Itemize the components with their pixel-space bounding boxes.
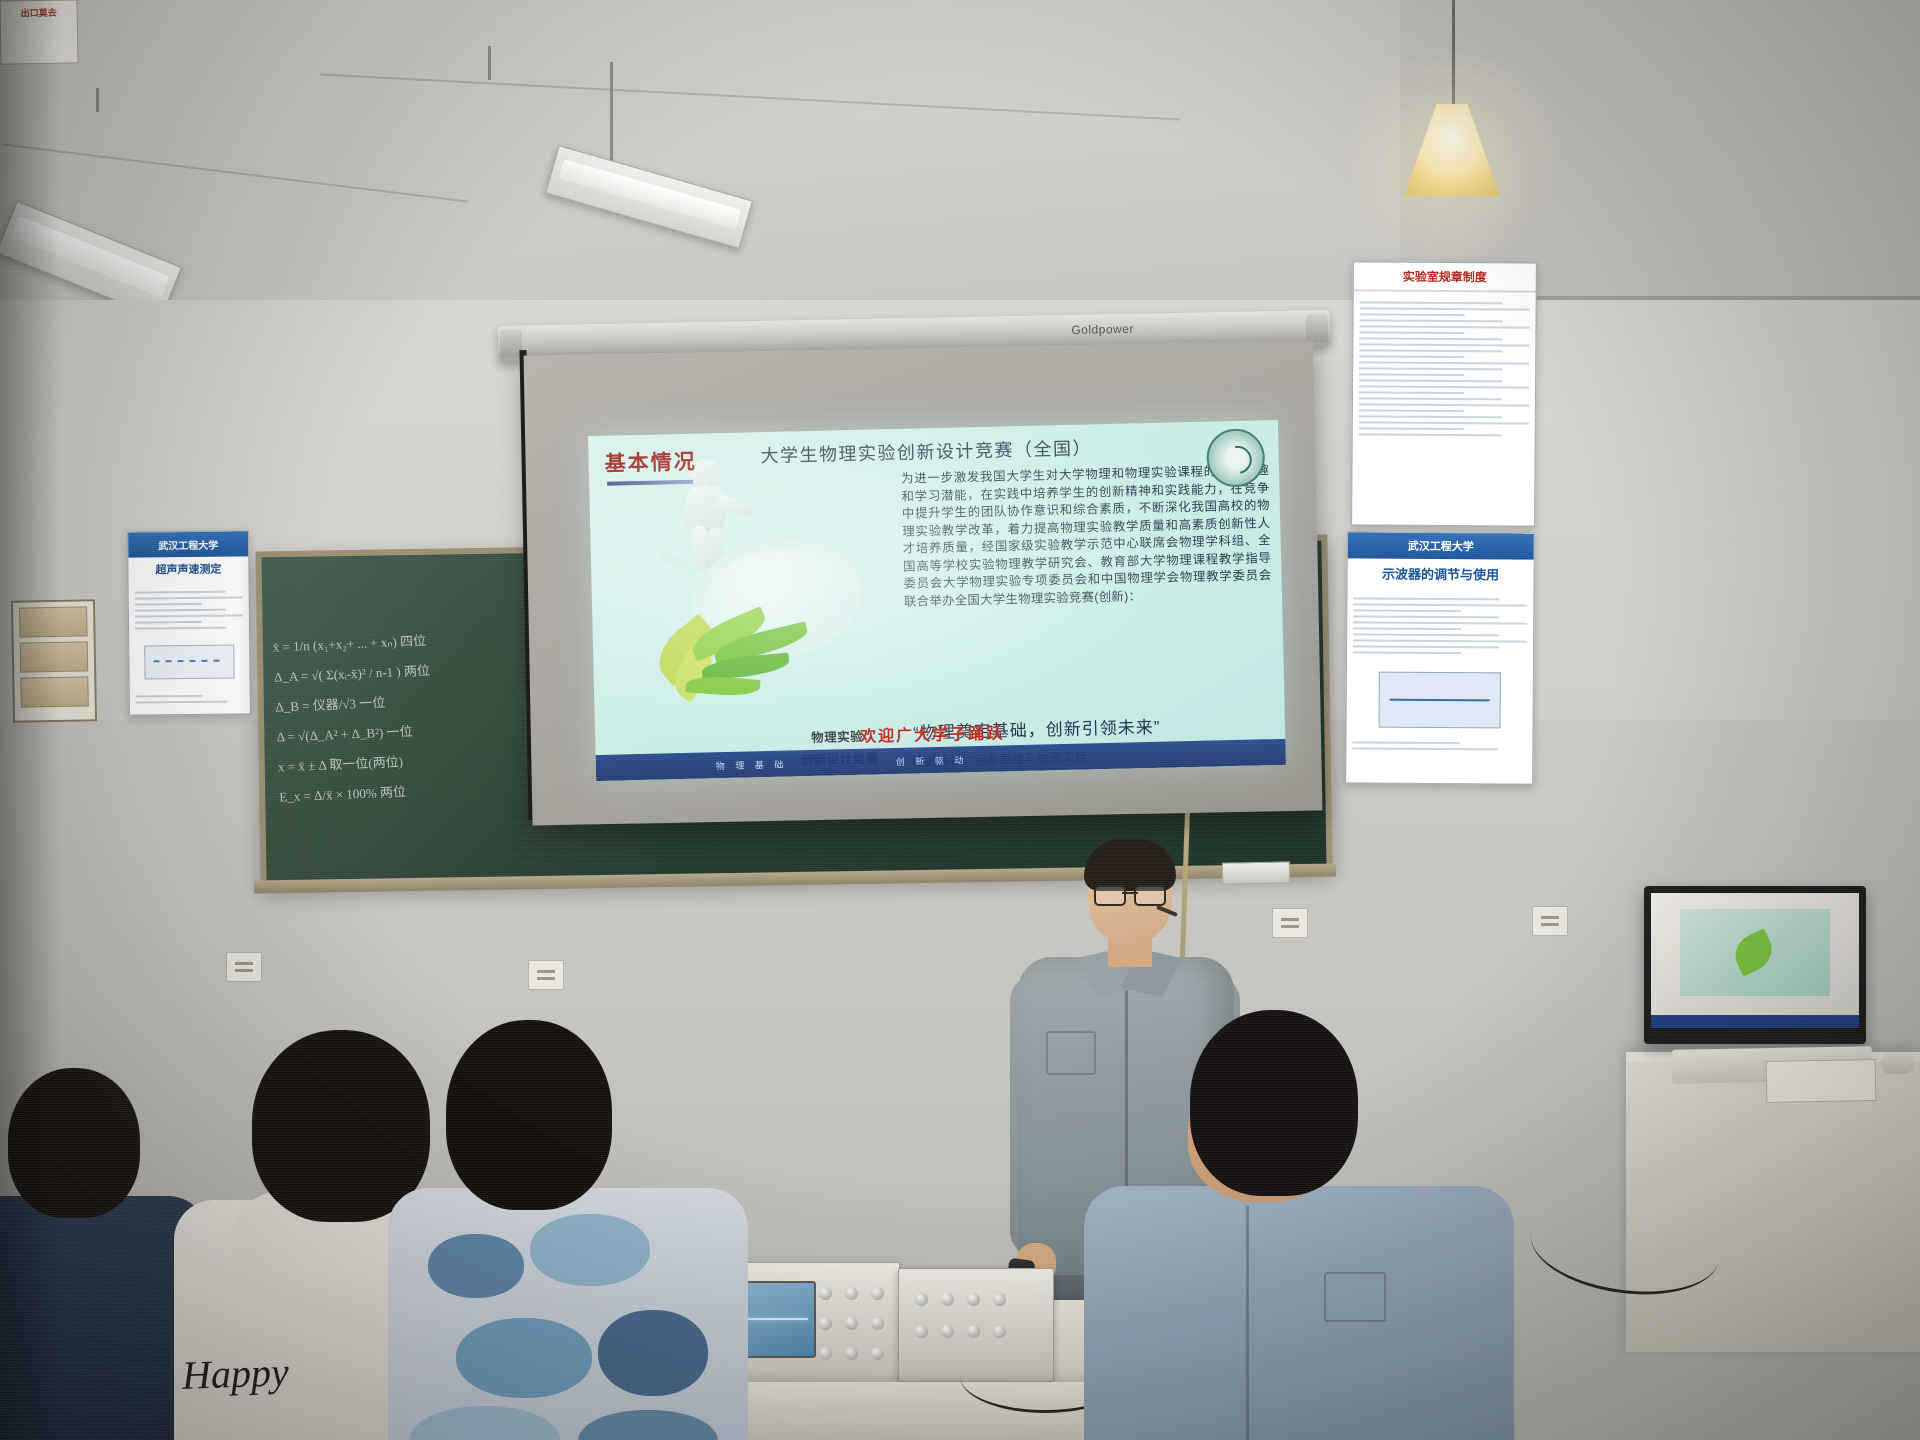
monitor-screen [1651,893,1859,1028]
student-front-right [1128,1010,1458,1440]
wall-outlet[interactable] [226,952,262,982]
slide-leaf-art [685,674,760,698]
slide-title: 大学生物理实验创新设计竞赛（全国） [760,434,1092,468]
student-hair [446,1020,612,1210]
slide-footer-left: 物 理 基 础 [716,758,788,773]
poster-oscilloscope-footer [1346,731,1532,760]
wall-outlet[interactable] [1272,908,1308,938]
photo-edge-shadow [0,0,60,1440]
jacket-pattern [398,1200,738,1440]
light-stem [488,46,491,80]
monitor-leaf-graphic [1729,928,1779,976]
student-torso [1084,1186,1514,1440]
computer-monitor[interactable] [1644,886,1866,1044]
paper-tray [1766,1059,1877,1103]
poster-ultrasonic-footer [130,684,250,713]
monitor-slide-image [1680,909,1830,995]
poster-lab-rules: 实验室规章制度 [1351,261,1537,526]
poster-oscilloscope-body [1347,587,1534,664]
poster-oscilloscope-header: 武汉工程大学 [1348,532,1534,559]
monitor-slide-footer [1651,1015,1859,1028]
slide-section-heading: 基本情况 [604,446,697,478]
light-stem [96,88,99,112]
student-hair [1190,1010,1358,1196]
slide-footer-right: 创 新 驱 动 [896,753,968,768]
slide-body-paragraph: 为进一步激发我国大学生对大学物理和物理实验课程的学习兴趣和学习潜能，在实践中培养… [901,462,1272,611]
glasses-icon [1094,885,1166,902]
classroom-photo: 实验室规章制度 武汉工程大学 示波器的调节与使用 出口莫去 武汉工程大学 超声声… [0,0,1920,1440]
projected-slide: 基本情况 大学生物理实验创新设计竞赛（全国） 为进一步激发我国大学生对大学物理和… [588,420,1286,781]
poster-lab-rules-title: 实验室规章制度 [1354,262,1536,292]
lecturer-hair [1084,839,1176,891]
poster-oscilloscope-title: 示波器的调节与使用 [1347,558,1533,588]
jacket-pocket [1324,1272,1386,1322]
wall-outlet[interactable] [528,960,564,990]
screen-case-cap [1306,314,1329,342]
jacket-seam [1246,1206,1249,1440]
poster-lab-rules-body [1353,291,1536,446]
mouse[interactable] [1880,1052,1914,1074]
poster-ultrasonic-body [129,580,250,639]
blackboard-left-notes: x̄ = 1/n (x₁+x₂+ ... + xₙ) 四位 Δ_A = √( Σ… [272,624,490,813]
oscilloscope-knobs[interactable] [815,1283,887,1371]
wall-outlet[interactable] [1532,906,1568,936]
poster-ultrasonic: 武汉工程大学 超声声速测定 [127,530,251,715]
slide-red-banner: 欢迎广大学子踊跃 [807,718,1057,748]
poster-oscilloscope: 武汉工程大学 示波器的调节与使用 [1345,531,1535,784]
poster-ultrasonic-title: 超声声速测定 [128,556,248,581]
oscilloscope-diagram-icon [1379,672,1501,729]
lecturer-shirt-pocket [1046,1031,1096,1075]
student-front-center [398,1020,728,1440]
clothing-text-happy: Happy [181,1348,289,1399]
projector-brand-label: Goldpower [1071,322,1134,337]
sound-wave-icon [144,645,234,680]
poster-ultrasonic-header: 武汉工程大学 [128,531,248,557]
